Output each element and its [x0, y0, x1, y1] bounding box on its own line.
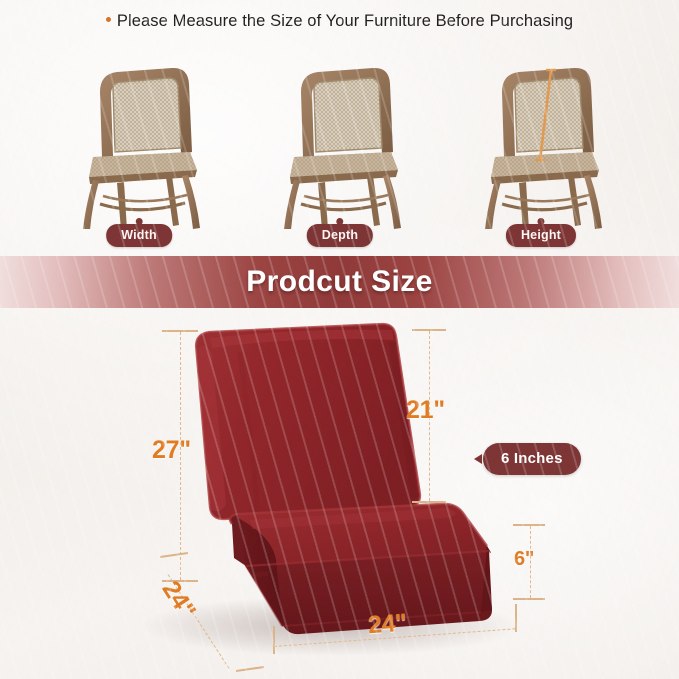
chair-illustration	[45, 44, 235, 229]
chair-width	[45, 44, 235, 244]
chair-label-row: Width Depth Height	[0, 216, 679, 246]
chair-depth	[246, 44, 436, 244]
chair-height	[447, 44, 637, 244]
dimension-label-6: 6"	[514, 548, 534, 571]
banner-title: Prodcut Size	[246, 265, 433, 299]
page-title: Please Measure the Size of Your Furnitur…	[0, 12, 679, 31]
product-infographic-page: Please Measure the Size of Your Furnitur…	[0, 0, 679, 679]
cushion-illustration: 27" 21" 24" 24"	[0, 308, 679, 679]
chair-illustration-row: Width Depth Height	[0, 44, 679, 244]
section-banner: Prodcut Size	[0, 256, 679, 308]
dimension-label-21: 21"	[406, 396, 445, 425]
product-size-section: 27" 21" 24" 24"	[0, 308, 679, 679]
chair-label-height: Height	[506, 224, 576, 247]
dimension-label-27: 27"	[152, 436, 191, 465]
headline-text: Please Measure the Size of Your Furnitur…	[117, 12, 573, 30]
chair-illustration	[246, 44, 436, 229]
bullet-dot-icon	[106, 17, 111, 22]
thickness-badge: 6 Inches	[483, 443, 581, 475]
dimension-label-24-width: 24"	[367, 609, 408, 641]
measure-instruction-section: Please Measure the Size of Your Furnitur…	[0, 0, 679, 257]
chair-label-depth: Depth	[307, 224, 373, 247]
chair-label-width: Width	[106, 224, 172, 247]
back-cushion	[196, 324, 420, 519]
chair-illustration	[447, 44, 637, 229]
